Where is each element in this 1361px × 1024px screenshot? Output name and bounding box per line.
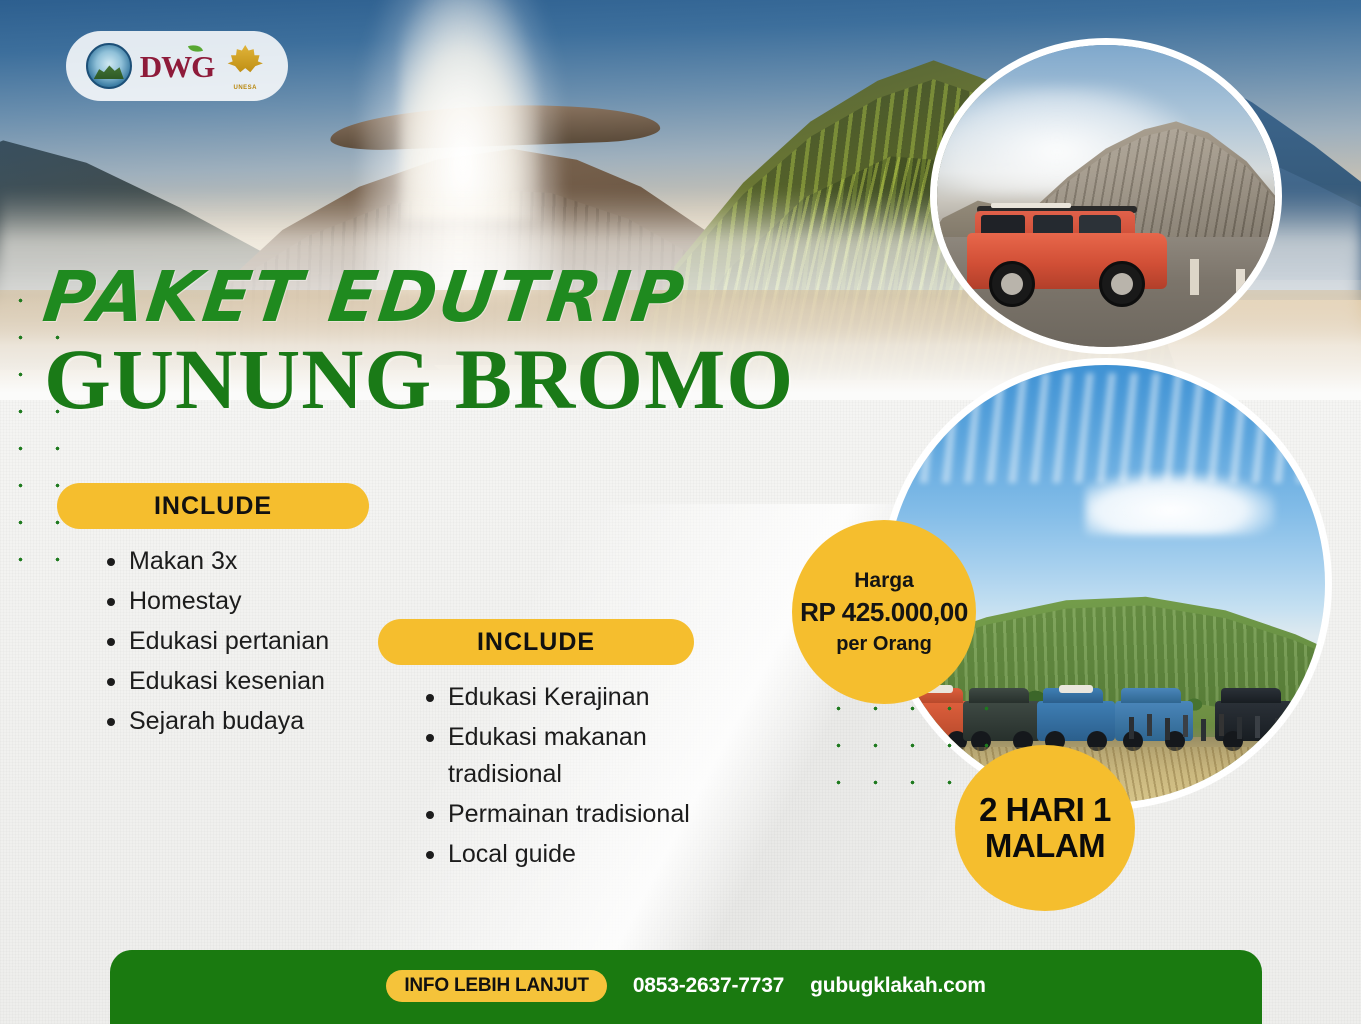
- unesa-logo-text: UNESA: [222, 85, 268, 91]
- list-item: Permainan tradisional: [414, 796, 704, 833]
- logo-pill: DWG UNESA: [66, 31, 288, 101]
- include-list-1: Makan 3x Homestay Edukasi pertanian Eduk…: [95, 543, 369, 740]
- list-item: Local guide: [414, 836, 704, 873]
- contact-phone[interactable]: 0853-2637-7737: [633, 970, 784, 1002]
- savanna-cumulus-cloud: [1085, 473, 1275, 535]
- savanna-cirrus-clouds: [887, 373, 1325, 483]
- jeep-roof-panel: [991, 203, 1071, 208]
- include-list-2: Edukasi Kerajinan Edukasi makanan tradis…: [414, 679, 704, 873]
- volcano-smoke-core: [400, 0, 540, 220]
- price-label: Harga: [854, 569, 914, 593]
- list-item: Homestay: [95, 583, 369, 620]
- dwg-logo: DWG: [140, 51, 215, 82]
- red-jeep-vehicle: [967, 215, 1179, 307]
- jeep-wheel-front: [1099, 261, 1145, 307]
- contact-footer-bar: INFO LEBIH LANJUT 0853-2637-7737 gubugkl…: [110, 950, 1262, 1024]
- jeep-blue-1: [1037, 701, 1115, 741]
- price-amount: RP 425.000,00: [800, 599, 968, 625]
- list-item: Edukasi Kerajinan: [414, 679, 704, 716]
- jeep-photo-post-2: [1236, 269, 1245, 303]
- price-unit: per Orang: [836, 633, 932, 656]
- poster-canvas: DWG UNESA PAKET EDUTRIP GUNUNG BROMO INC…: [0, 0, 1361, 1024]
- include-heading-2: INCLUDE: [378, 619, 694, 665]
- dwg-logo-text: DWG: [140, 49, 215, 84]
- info-cta-button[interactable]: INFO LEBIH LANJUT: [386, 970, 607, 1002]
- page-title: PAKET EDUTRIP GUNUNG BROMO: [44, 262, 794, 422]
- list-item: Edukasi makanan tradisional: [414, 719, 704, 793]
- list-item: Edukasi pertanian: [95, 623, 369, 660]
- list-item: Edukasi kesenian: [95, 663, 369, 700]
- savanna-tourists: [1127, 711, 1317, 741]
- title-main-line: GUNUNG BROMO: [44, 336, 794, 422]
- duration-line-1: 2 HARI 1: [979, 792, 1111, 828]
- include-panel-1: INCLUDE Makan 3x Homestay Edukasi pertan…: [57, 483, 369, 743]
- contact-website[interactable]: gubugklakah.com: [810, 970, 986, 1002]
- jeep-wheel-rear: [989, 261, 1035, 307]
- unesa-logo: UNESA: [222, 41, 268, 91]
- desa-wisata-circle-logo: [86, 43, 132, 89]
- unesa-wing-icon: [224, 45, 266, 79]
- list-item: Sejarah budaya: [95, 703, 369, 740]
- duration-line-2: MALAM: [985, 828, 1105, 864]
- jeep-photo-post-1: [1190, 259, 1199, 295]
- include-heading-1: INCLUDE: [57, 483, 369, 529]
- list-item: Makan 3x: [95, 543, 369, 580]
- duration-badge: 2 HARI 1 MALAM: [955, 745, 1135, 911]
- price-badge: Harga RP 425.000,00 per Orang: [792, 520, 976, 704]
- title-script-line: PAKET EDUTRIP: [40, 262, 799, 332]
- include-panel-2: INCLUDE Edukasi Kerajinan Edukasi makana…: [378, 619, 704, 876]
- photo-jeep-at-bromo: [930, 38, 1282, 354]
